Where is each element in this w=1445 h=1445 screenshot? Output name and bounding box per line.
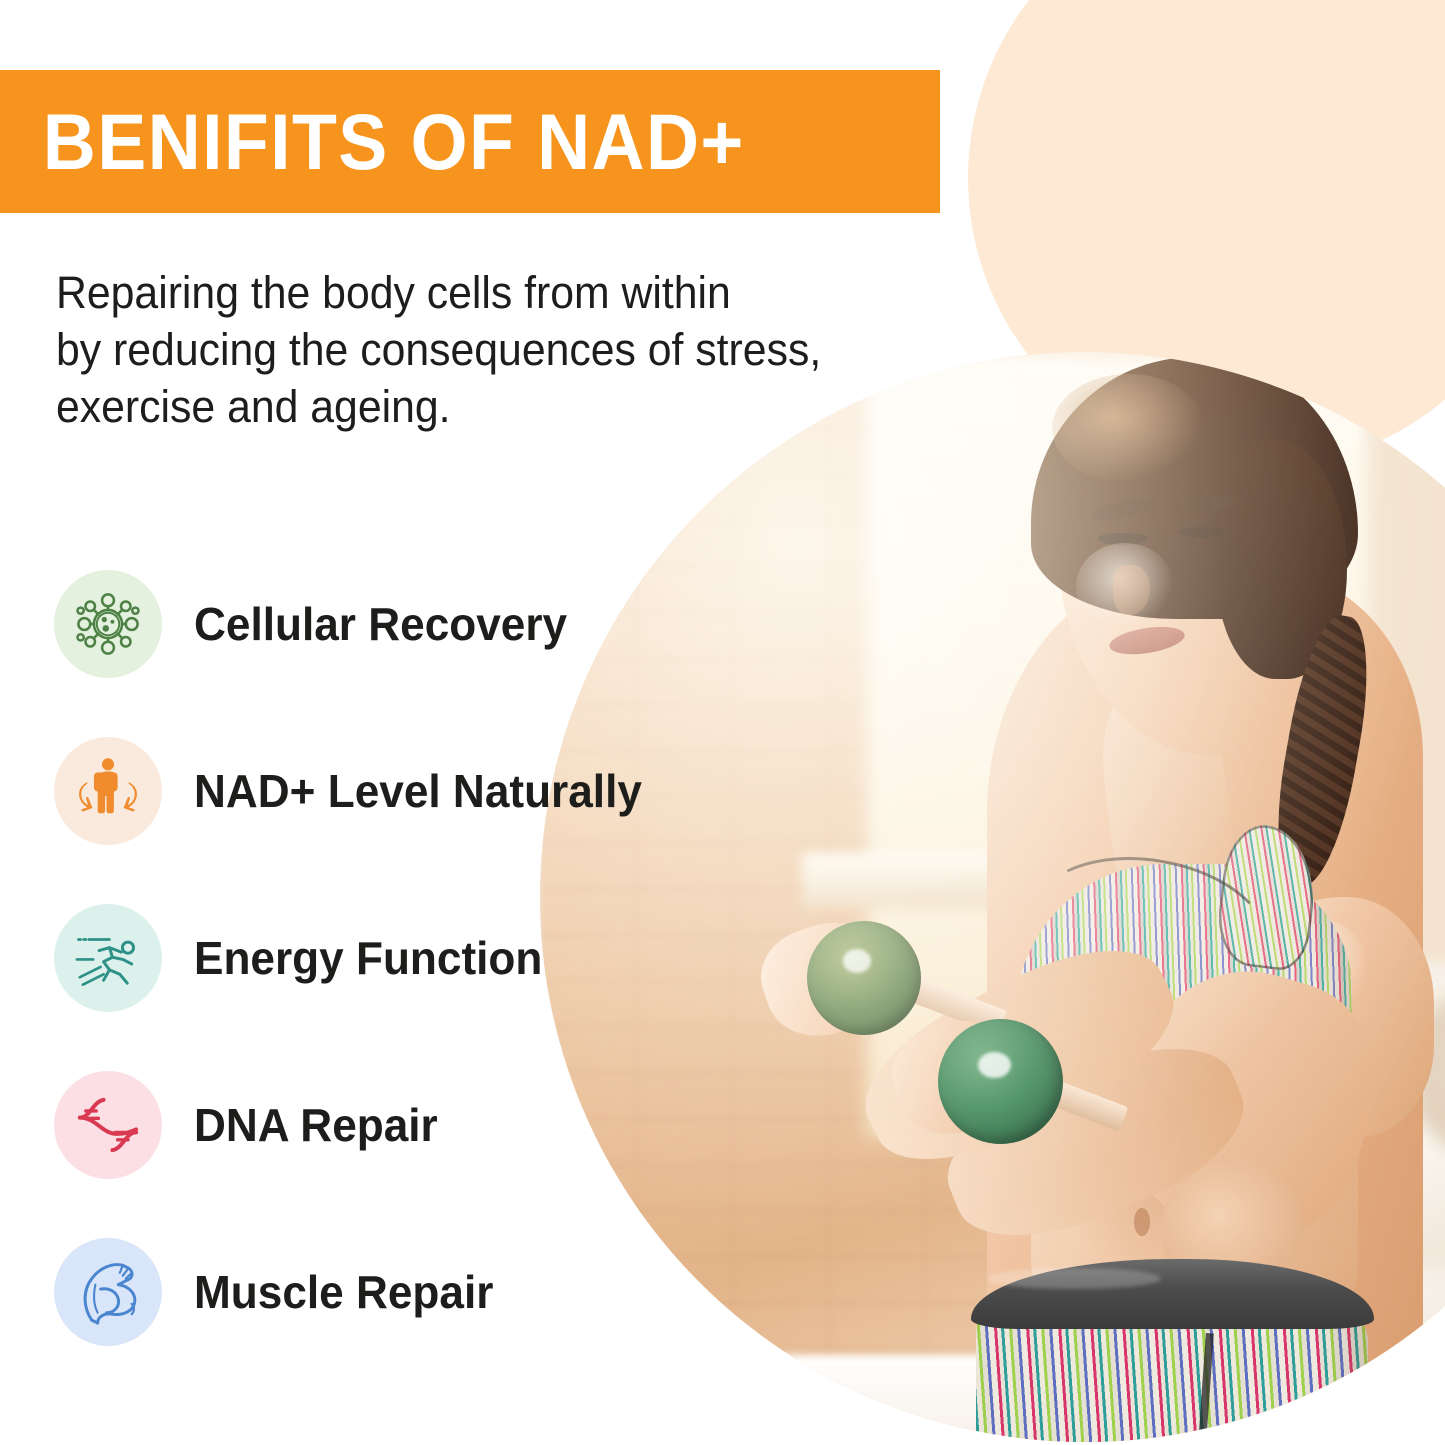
benefit-item-dna-repair: DNA Repair	[54, 1041, 754, 1208]
benefit-item-energy-function: Energy Function	[54, 874, 754, 1041]
running-figure-icon	[71, 921, 145, 995]
benefit-label-dna-repair: DNA Repair	[194, 1098, 438, 1152]
body-renewal-arrows-icon	[71, 754, 145, 828]
page-title: BENIFITS OF NAD+	[0, 102, 745, 181]
benefit-label-muscle-repair: Muscle Repair	[194, 1265, 493, 1319]
running-figure-icon-badge	[54, 904, 162, 1012]
nad-benefits-infographic: BENIFITS OF NAD+ Repairing the body cell…	[0, 0, 1445, 1445]
benefit-item-nad-level: NAD+ Level Naturally	[54, 707, 754, 874]
body-renewal-arrows-icon-badge	[54, 737, 162, 845]
flexed-bicep-icon	[71, 1255, 145, 1329]
benefit-item-cellular-recovery: Cellular Recovery	[54, 540, 754, 707]
benefit-label-energy-function: Energy Function	[194, 931, 542, 985]
benefit-label-cellular-recovery: Cellular Recovery	[194, 597, 567, 651]
dna-helix-icon-badge	[54, 1071, 162, 1179]
subtitle-block: Repairing the body cells from within by …	[56, 264, 854, 435]
dna-helix-icon	[71, 1088, 145, 1162]
flexed-bicep-icon-badge	[54, 1238, 162, 1346]
title-banner: BENIFITS OF NAD+	[0, 70, 940, 213]
benefit-label-nad-level: NAD+ Level Naturally	[194, 764, 642, 818]
benefits-list: Cellular Recovery NAD+ Level Naturally	[54, 540, 754, 1375]
subtitle-line-2: by reducing the consequences of stress,	[56, 321, 854, 378]
cell-virus-icon-badge	[54, 570, 162, 678]
subtitle-line-3: exercise and ageing.	[56, 378, 854, 435]
cell-virus-icon	[71, 587, 145, 661]
subtitle-line-1: Repairing the body cells from within	[56, 264, 854, 321]
benefit-item-muscle-repair: Muscle Repair	[54, 1208, 754, 1375]
